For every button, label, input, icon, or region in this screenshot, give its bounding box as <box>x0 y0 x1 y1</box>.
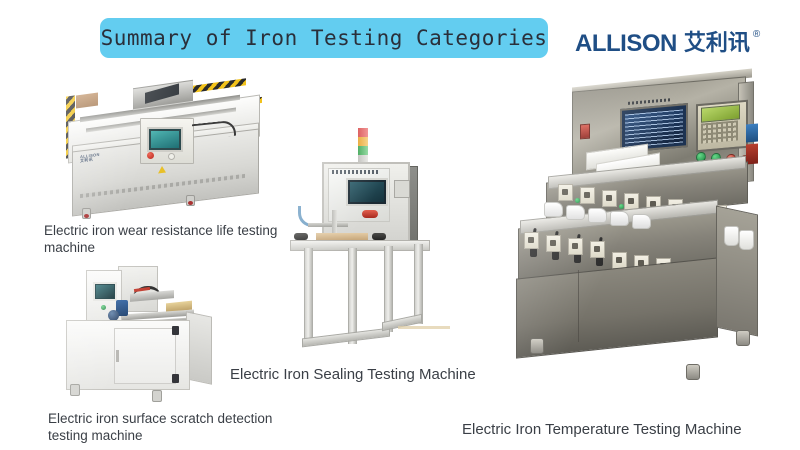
caster-wheel <box>82 208 91 219</box>
deck-fixture <box>294 233 308 240</box>
caster-wheel <box>186 195 195 206</box>
title-banner: Summary of Iron Testing Categories <box>100 18 548 58</box>
plc-keypad[interactable] <box>701 120 738 143</box>
base-cabinet-seam <box>578 270 579 342</box>
brand-logo-en: ALLISON <box>575 32 677 56</box>
temperature-machine-photo <box>500 80 785 400</box>
tower-light <box>358 128 368 162</box>
warning-triangle-icon <box>158 166 166 174</box>
plug-connector <box>530 248 537 257</box>
test-station[interactable] <box>558 184 573 201</box>
side-switch-red[interactable] <box>580 124 590 140</box>
iron-under-test <box>544 202 563 217</box>
side-junction-box <box>394 180 410 198</box>
station-led <box>575 198 580 203</box>
frame-leg <box>414 244 423 324</box>
iron-under-test <box>566 205 585 220</box>
cabinet-door-handle[interactable] <box>116 350 119 362</box>
poster-canvas: Summary of Iron Testing Categories ALLIS… <box>0 0 800 450</box>
caption-surface-scratch: Electric iron surface scratch detection … <box>48 410 298 445</box>
caster-wheel <box>530 338 544 354</box>
plug-connector <box>596 257 603 266</box>
frame-leg <box>304 248 313 340</box>
corner-bracket <box>172 326 179 335</box>
workpiece-box <box>76 92 98 108</box>
test-station[interactable] <box>568 238 583 255</box>
start-button[interactable] <box>168 153 175 160</box>
sealing-machine-photo <box>288 128 448 348</box>
tower-light-base <box>358 155 368 162</box>
touchscreen-display[interactable] <box>346 178 388 206</box>
plug-connector <box>552 251 559 260</box>
brand-logo: ALLISON 艾利讯 ® <box>575 32 775 66</box>
work-fixture-board <box>316 233 368 240</box>
frame-leg <box>348 248 357 344</box>
iron-storage <box>739 230 754 250</box>
tower-light-amber <box>358 137 368 146</box>
power-indicator-led <box>101 305 106 310</box>
plug-connector <box>574 254 581 263</box>
scratch-detection-machine-photo <box>60 258 240 406</box>
iron-under-test <box>632 214 651 229</box>
side-panel-blue <box>746 123 758 142</box>
caster-wheel <box>70 384 80 396</box>
brand-logo-cn: 艾利讯 <box>684 32 750 55</box>
caster-wheel <box>686 364 700 380</box>
wear-resistance-machine-photo: ALLISON艾利讯 <box>58 78 273 223</box>
iron-storage <box>724 226 739 246</box>
emergency-stop-button[interactable] <box>147 152 154 159</box>
iron-under-test <box>610 211 629 226</box>
test-station[interactable] <box>590 241 605 258</box>
page-title: Summary of Iron Testing Categories <box>101 26 548 50</box>
deck-fixture <box>372 233 386 240</box>
tower-light-green <box>358 146 368 155</box>
caster-wheel <box>736 330 750 346</box>
tower-light-red <box>358 128 368 137</box>
caption-wear-resistance: Electric iron wear resistance life testi… <box>44 222 294 257</box>
carriage-plate <box>145 83 179 104</box>
test-station[interactable] <box>546 235 561 252</box>
corner-bracket <box>172 374 179 383</box>
cabinet-door[interactable] <box>114 328 176 384</box>
touchscreen-display[interactable] <box>147 127 183 152</box>
test-station[interactable] <box>580 187 595 204</box>
floor-shadow <box>398 326 450 329</box>
frame-base-rail <box>302 328 390 348</box>
touchscreen-display[interactable] <box>93 282 117 301</box>
test-station[interactable] <box>524 232 539 249</box>
head-label-strip <box>332 170 378 174</box>
tooling-arm <box>308 223 348 227</box>
caster-wheel <box>152 390 162 402</box>
iron-under-test <box>588 208 607 223</box>
test-station[interactable] <box>602 190 617 207</box>
caption-temperature: Electric Iron Temperature Testing Machin… <box>462 420 792 439</box>
station-led <box>619 204 624 209</box>
emergency-stop-button[interactable] <box>362 210 378 218</box>
registered-trademark-icon: ® <box>753 29 760 40</box>
